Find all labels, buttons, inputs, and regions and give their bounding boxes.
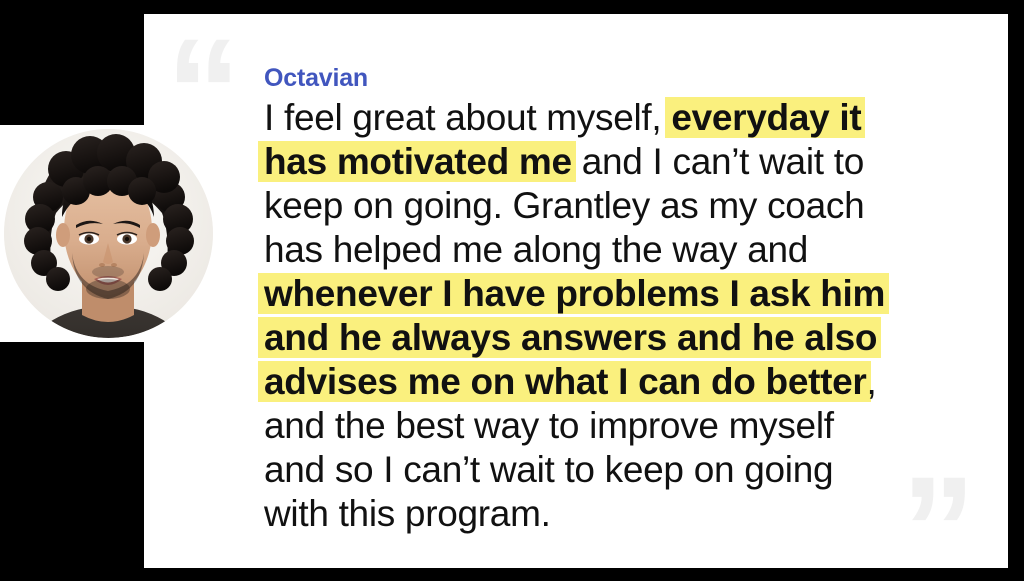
quote-line: keep on going. Grantley as my coach bbox=[264, 184, 984, 228]
highlighted-text: everyday it bbox=[671, 97, 861, 138]
quote-text-segment: keep on going. Grantley as my coach bbox=[264, 185, 864, 226]
author-name: Octavian bbox=[264, 64, 368, 93]
quote-line: and so I can’t wait to keep on going bbox=[264, 448, 984, 492]
quote-line: advises me on what I can do better, bbox=[264, 360, 984, 404]
quote-card: “ ” Octavian I feel great about myself, … bbox=[144, 14, 1008, 568]
highlighted-text: whenever I have problems I ask him bbox=[264, 273, 885, 314]
quote-text-segment: and so I can’t wait to keep on going bbox=[264, 449, 833, 490]
quote-line: and he always answers and he also bbox=[264, 316, 984, 360]
avatar-portrait-image bbox=[4, 129, 213, 338]
quote-line: and the best way to improve myself bbox=[264, 404, 984, 448]
highlighted-text: and he always answers and he also bbox=[264, 317, 877, 358]
quote-text-segment: has helped me along the way and bbox=[264, 229, 808, 270]
quote-line: has helped me along the way and bbox=[264, 228, 984, 272]
highlighted-text: advises me on what I can do better bbox=[264, 361, 867, 402]
avatar bbox=[4, 129, 213, 338]
quote-text-segment: I feel great about myself, bbox=[264, 97, 671, 138]
highlighted-text: has motivated me bbox=[264, 141, 572, 182]
quote-line: with this program. bbox=[264, 492, 984, 536]
quote-text-segment: and I can’t wait to bbox=[572, 141, 864, 182]
quote-text: I feel great about myself, everyday itha… bbox=[264, 96, 984, 536]
quote-line: whenever I have problems I ask him bbox=[264, 272, 984, 316]
quote-line: has motivated me and I can’t wait to bbox=[264, 140, 984, 184]
opening-quote-icon: “ bbox=[166, 16, 241, 166]
testimonial-slide: “ ” Octavian I feel great about myself, … bbox=[0, 0, 1024, 581]
quote-text-segment: , bbox=[867, 361, 877, 402]
quote-text-segment: and the best way to improve myself bbox=[264, 405, 834, 446]
avatar-panel bbox=[0, 125, 146, 342]
quote-text-segment: with this program. bbox=[264, 493, 551, 534]
quote-line: I feel great about myself, everyday it bbox=[264, 96, 984, 140]
